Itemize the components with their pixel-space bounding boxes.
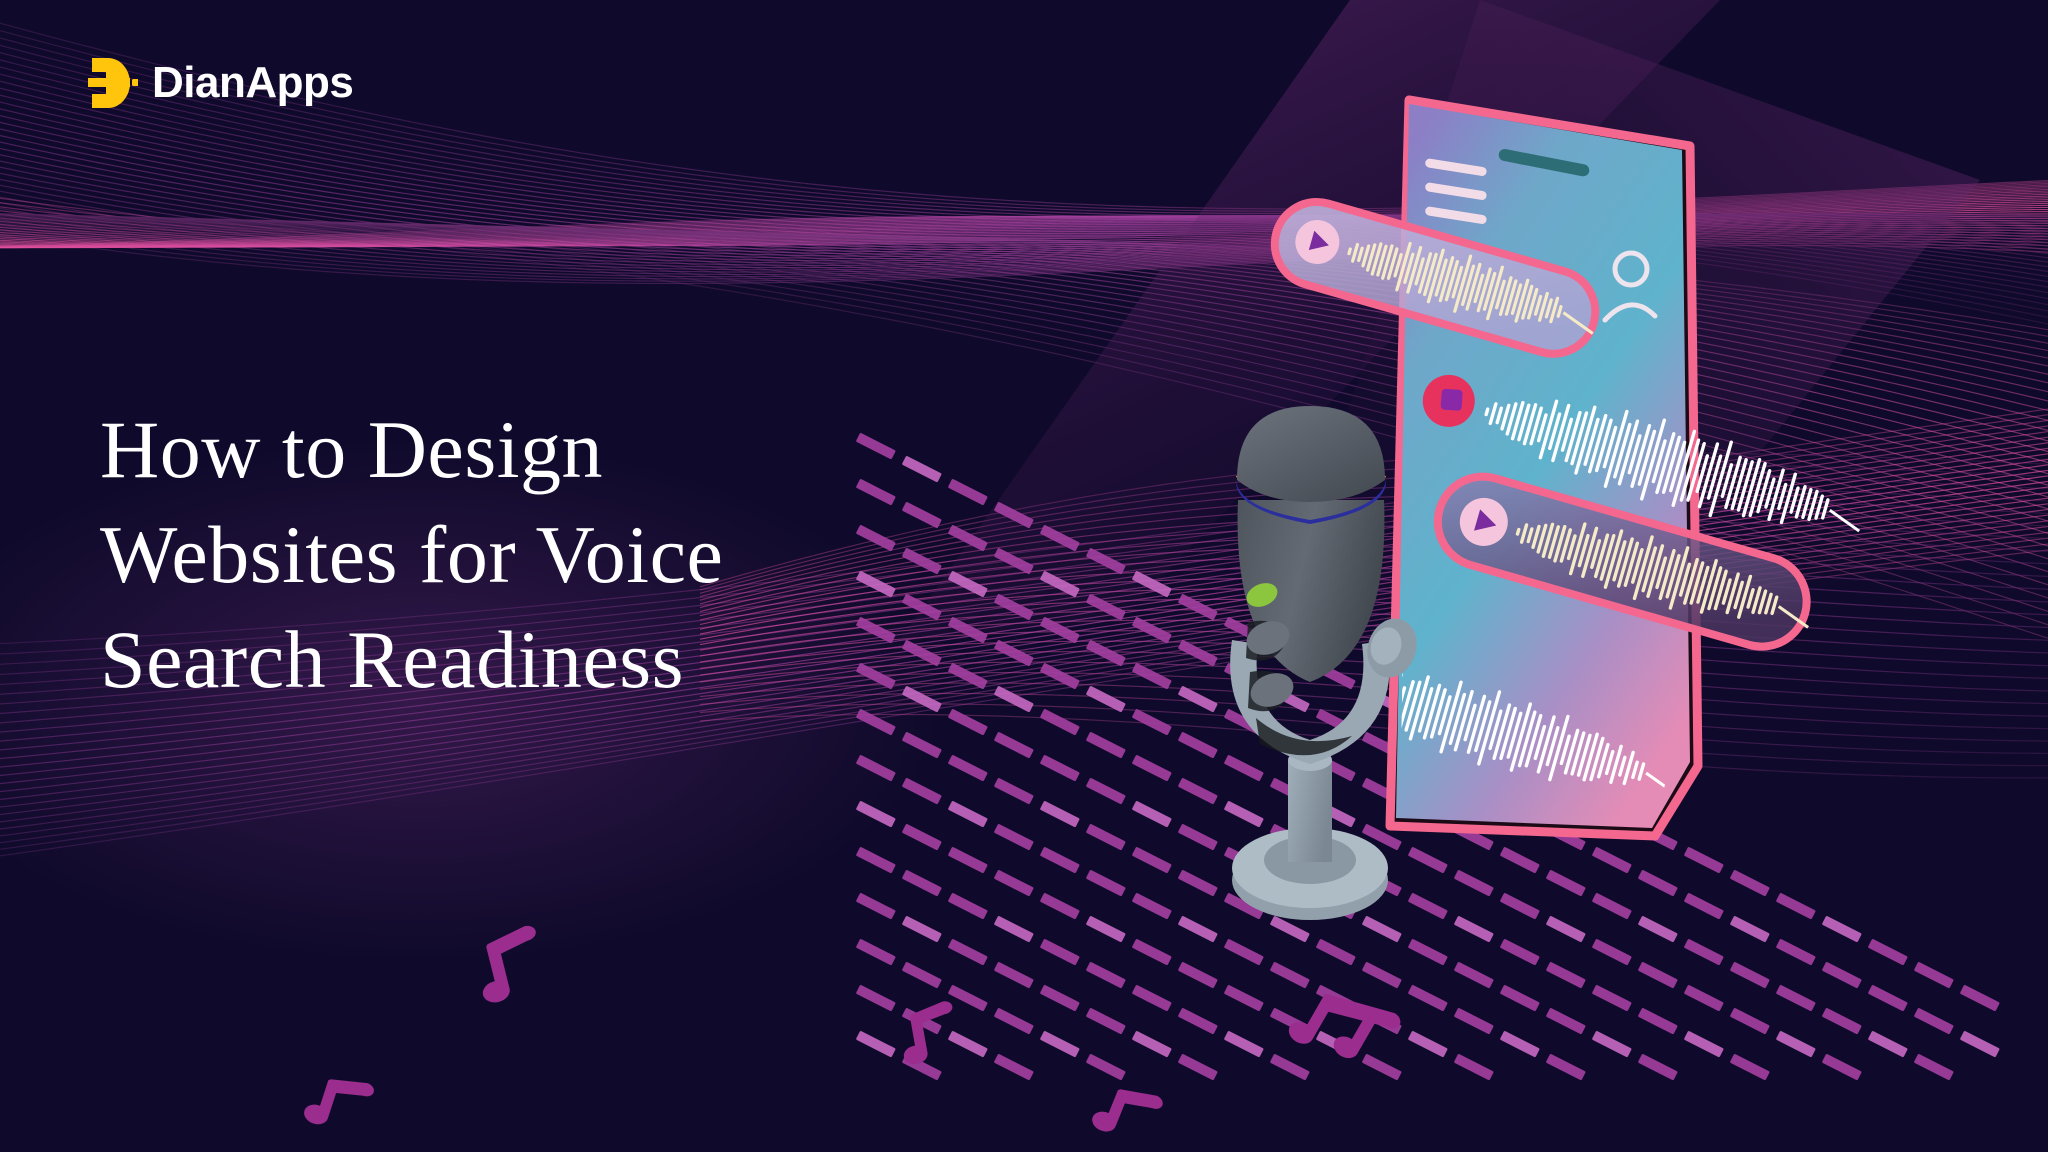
page-title: How to Design Websites for Voice Search … bbox=[100, 398, 960, 713]
headline-line-3: Search Readiness bbox=[100, 608, 960, 713]
mic-dome bbox=[1237, 406, 1385, 502]
headline-line-2: Websites for Voice bbox=[100, 503, 960, 608]
voice-search-banner: DianApps How to Design Websites for Voic… bbox=[0, 0, 2048, 1152]
headline-line-1: How to Design bbox=[100, 398, 960, 503]
dianapps-d-mark-icon bbox=[86, 54, 138, 112]
mic-stem bbox=[1288, 760, 1332, 862]
brand-name: DianApps bbox=[152, 61, 353, 105]
brand-logo[interactable]: DianApps bbox=[86, 54, 353, 112]
